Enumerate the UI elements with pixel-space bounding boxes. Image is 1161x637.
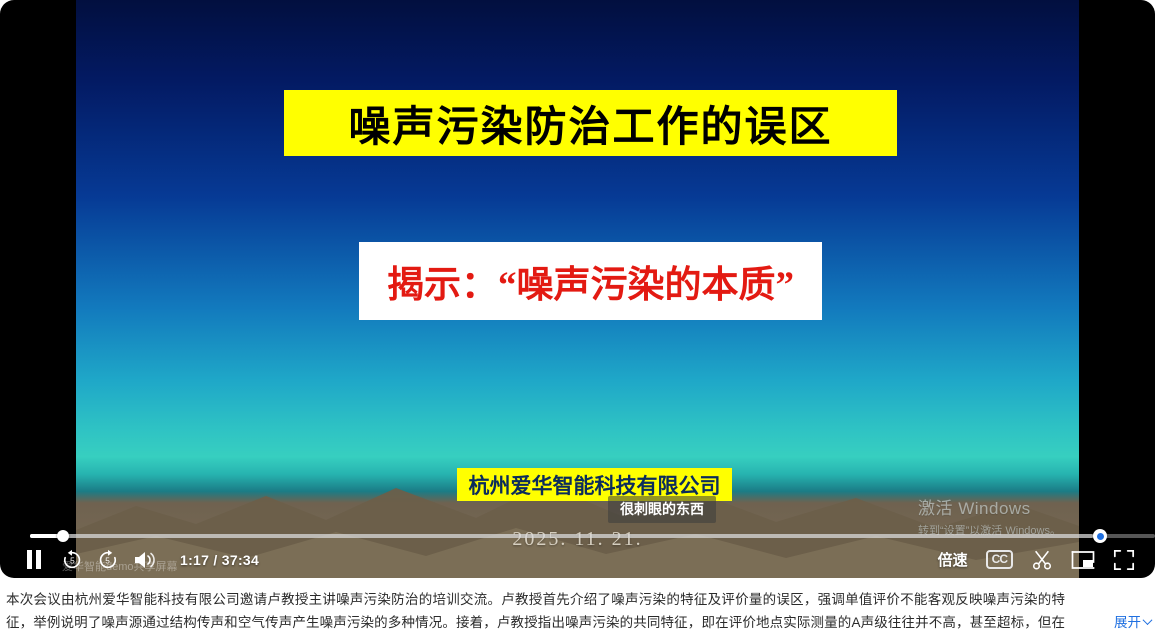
forward-5-icon: 5 <box>97 549 119 571</box>
expand-description-button[interactable]: 展开 <box>1100 611 1151 631</box>
picture-in-picture-icon <box>1071 550 1095 570</box>
fullscreen-button[interactable] <box>1113 549 1135 571</box>
svg-text:5: 5 <box>70 556 75 565</box>
player-controls: 5 5 1:17 / 37:34 倍速 CC <box>0 541 1155 578</box>
progress-secondary-thumb[interactable] <box>1093 529 1107 543</box>
windows-watermark-line1: 激活 Windows <box>918 494 1061 519</box>
playback-speed-button[interactable]: 倍速 <box>938 549 968 570</box>
fullscreen-icon <box>1113 549 1135 571</box>
volume-icon <box>133 550 157 570</box>
player-controls-left: 5 5 1:17 / 37:34 <box>0 543 259 577</box>
progress-track[interactable] <box>30 534 1155 538</box>
progress-buffer <box>30 534 1093 538</box>
expand-label: 展开 <box>1114 611 1141 631</box>
slide-content: 噪声污染防治工作的误区 揭示：“噪声污染的本质” 杭州爱华智能科技有限公司 20… <box>76 0 1079 578</box>
svg-text:5: 5 <box>105 556 110 565</box>
picture-in-picture-button[interactable] <box>1071 550 1095 570</box>
slide-subtitle-box: 揭示：“噪声污染的本质” <box>359 242 822 320</box>
player-controls-right: 倍速 CC <box>938 549 1155 571</box>
slide-title-box: 噪声污染防治工作的误区 <box>284 90 897 156</box>
volume-button[interactable] <box>126 543 164 577</box>
pause-button[interactable] <box>14 543 54 577</box>
slide-subtitle: 揭示：“噪声污染的本质” <box>387 254 794 308</box>
chevron-down-icon <box>1143 615 1153 625</box>
progress-bar[interactable] <box>0 529 1155 543</box>
video-player[interactable]: 噪声污染防治工作的误区 揭示：“噪声污染的本质” 杭州爱华智能科技有限公司 20… <box>0 0 1155 578</box>
progress-thumb[interactable] <box>57 530 69 542</box>
rewind-5-button[interactable]: 5 <box>54 543 90 577</box>
slide-title: 噪声污染防治工作的误区 <box>348 93 832 154</box>
rewind-5-icon: 5 <box>61 549 83 571</box>
danmaku-comment: 很刺眼的东西 <box>608 496 716 523</box>
captions-button[interactable]: CC <box>986 550 1013 569</box>
scissors-icon <box>1031 549 1053 571</box>
clip-button[interactable] <box>1031 549 1053 571</box>
video-description: 本次会议由杭州爱华智能科技有限公司邀请卢教授主讲噪声污染防治的培训交流。卢教授首… <box>0 586 1161 637</box>
pause-icon <box>26 550 42 569</box>
forward-5-button[interactable]: 5 <box>90 543 126 577</box>
slide-company: 杭州爱华智能科技有限公司 <box>469 470 721 500</box>
description-text: 本次会议由杭州爱华智能科技有限公司邀请卢教授主讲噪声污染防治的培训交流。卢教授首… <box>6 588 1161 634</box>
time-display: 1:17 / 37:34 <box>180 552 259 568</box>
